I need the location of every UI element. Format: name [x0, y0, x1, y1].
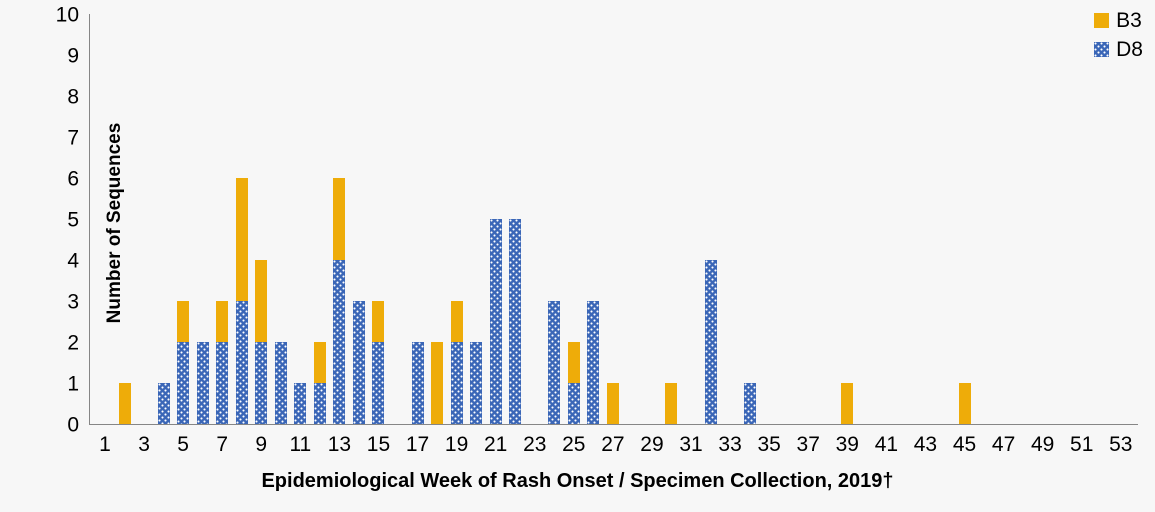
bar-week-24[interactable]	[548, 301, 560, 424]
x-axis-tick-47: 47	[984, 432, 1024, 458]
bar-segment-b3-week-15	[372, 301, 384, 342]
bar-segment-b3-week-2	[119, 383, 131, 424]
y-axis-tick-1: 1	[37, 374, 79, 395]
legend-item-b3[interactable]: B3	[1094, 10, 1143, 31]
bar-week-4[interactable]	[158, 383, 170, 424]
x-axis-tick-1: 1	[85, 432, 125, 458]
bar-week-5[interactable]	[177, 301, 189, 424]
bar-segment-b3-week-18	[431, 342, 443, 424]
y-axis-tick-5: 5	[37, 210, 79, 231]
bar-week-2[interactable]	[119, 383, 131, 424]
bar-week-32[interactable]	[705, 260, 717, 424]
x-axis-tick-7: 7	[202, 432, 242, 458]
bar-segment-d8-week-22	[509, 219, 521, 424]
x-axis-tick-27: 27	[593, 432, 633, 458]
bar-series-layer	[89, 14, 1138, 424]
x-axis-tick-labels: 1357911131517192123252729313335373941434…	[89, 432, 1138, 462]
bar-segment-d8-week-12	[314, 383, 326, 424]
legend-swatch-d8-icon	[1094, 42, 1109, 57]
y-axis-tick-9: 9	[37, 46, 79, 67]
bar-week-34[interactable]	[744, 383, 756, 424]
bar-week-14[interactable]	[353, 301, 365, 424]
bar-week-11[interactable]	[294, 383, 306, 424]
bar-week-25[interactable]	[568, 342, 580, 424]
x-axis-tick-31: 31	[671, 432, 711, 458]
bar-week-27[interactable]	[607, 383, 619, 424]
bar-segment-d8-week-24	[548, 301, 560, 424]
bar-segment-b3-week-39	[841, 383, 853, 424]
bar-week-45[interactable]	[959, 383, 971, 424]
bar-week-8[interactable]	[236, 178, 248, 424]
x-axis-tick-39: 39	[827, 432, 867, 458]
bar-segment-d8-week-15	[372, 342, 384, 424]
chart-legend: B3D8	[1094, 10, 1143, 60]
bar-segment-b3-week-12	[314, 342, 326, 383]
bar-segment-d8-week-7	[216, 342, 228, 424]
bar-week-39[interactable]	[841, 383, 853, 424]
bar-segment-d8-week-17	[412, 342, 424, 424]
legend-label-d8: D8	[1116, 39, 1143, 60]
bar-segment-b3-week-9	[255, 260, 267, 342]
x-axis-tick-29: 29	[632, 432, 672, 458]
bar-week-19[interactable]	[451, 301, 463, 424]
x-axis-title: Epidemiological Week of Rash Onset / Spe…	[0, 470, 1155, 493]
x-axis-tick-41: 41	[866, 432, 906, 458]
x-axis-tick-11: 11	[280, 432, 320, 458]
x-axis-tick-45: 45	[945, 432, 985, 458]
bar-week-10[interactable]	[275, 342, 287, 424]
y-axis-tick-2: 2	[37, 333, 79, 354]
bar-segment-d8-week-25	[568, 383, 580, 424]
x-axis-tick-49: 49	[1023, 432, 1063, 458]
y-axis-tick-6: 6	[37, 169, 79, 190]
bar-week-22[interactable]	[509, 219, 521, 424]
bar-segment-d8-week-11	[294, 383, 306, 424]
bar-week-30[interactable]	[665, 383, 677, 424]
bar-segment-b3-week-25	[568, 342, 580, 383]
bar-segment-d8-week-10	[275, 342, 287, 424]
legend-label-b3: B3	[1116, 10, 1142, 31]
bar-segment-d8-week-14	[353, 301, 365, 424]
bar-week-7[interactable]	[216, 301, 228, 424]
bar-segment-d8-week-21	[490, 219, 502, 424]
y-axis-tick-7: 7	[37, 128, 79, 149]
x-axis-tick-21: 21	[476, 432, 516, 458]
bar-week-20[interactable]	[470, 342, 482, 424]
bar-segment-b3-week-8	[236, 178, 248, 301]
x-axis-tick-3: 3	[124, 432, 164, 458]
y-axis-tick-3: 3	[37, 292, 79, 313]
bar-segment-b3-week-27	[607, 383, 619, 424]
x-axis-tick-35: 35	[749, 432, 789, 458]
y-axis-tick-8: 8	[37, 87, 79, 108]
x-axis-tick-15: 15	[358, 432, 398, 458]
bar-week-12[interactable]	[314, 342, 326, 424]
chart-root: Number of Sequences 012345678910 1357911…	[0, 0, 1155, 512]
bar-segment-d8-week-19	[451, 342, 463, 424]
bar-segment-d8-week-4	[158, 383, 170, 424]
bar-segment-b3-week-7	[216, 301, 228, 342]
y-axis-tick-10: 10	[37, 5, 79, 26]
bar-segment-d8-week-13	[333, 260, 345, 424]
bar-segment-d8-week-20	[470, 342, 482, 424]
bar-segment-b3-week-5	[177, 301, 189, 342]
bar-segment-b3-week-45	[959, 383, 971, 424]
bar-week-13[interactable]	[333, 178, 345, 424]
x-axis-tick-33: 33	[710, 432, 750, 458]
x-axis-tick-53: 53	[1101, 432, 1141, 458]
bar-segment-d8-week-6	[197, 342, 209, 424]
x-axis-tick-9: 9	[241, 432, 281, 458]
y-axis-tick-4: 4	[37, 251, 79, 272]
x-axis-tick-37: 37	[788, 432, 828, 458]
bar-segment-d8-week-5	[177, 342, 189, 424]
x-axis-tick-25: 25	[554, 432, 594, 458]
bar-week-9[interactable]	[255, 260, 267, 424]
legend-item-d8[interactable]: D8	[1094, 39, 1143, 60]
x-axis-tick-51: 51	[1062, 432, 1102, 458]
x-axis-tick-17: 17	[398, 432, 438, 458]
bar-week-17[interactable]	[412, 342, 424, 424]
bar-week-18[interactable]	[431, 342, 443, 424]
bar-segment-b3-week-30	[665, 383, 677, 424]
bar-segment-b3-week-19	[451, 301, 463, 342]
bar-segment-d8-week-9	[255, 342, 267, 424]
x-axis-tick-13: 13	[319, 432, 359, 458]
x-axis-line	[89, 424, 1138, 425]
bar-segment-d8-week-26	[587, 301, 599, 424]
bar-segment-d8-week-8	[236, 301, 248, 424]
x-axis-tick-43: 43	[905, 432, 945, 458]
x-axis-tick-19: 19	[437, 432, 477, 458]
bar-segment-d8-week-32	[705, 260, 717, 424]
y-axis-tick-0: 0	[37, 415, 79, 436]
plot-area: 012345678910	[89, 14, 1138, 425]
bar-segment-b3-week-13	[333, 178, 345, 260]
legend-swatch-b3-icon	[1094, 13, 1109, 28]
x-axis-tick-5: 5	[163, 432, 203, 458]
bar-week-21[interactable]	[490, 219, 502, 424]
x-axis-tick-23: 23	[515, 432, 555, 458]
bar-week-15[interactable]	[372, 301, 384, 424]
bar-week-26[interactable]	[587, 301, 599, 424]
bar-segment-d8-week-34	[744, 383, 756, 424]
bar-week-6[interactable]	[197, 342, 209, 424]
